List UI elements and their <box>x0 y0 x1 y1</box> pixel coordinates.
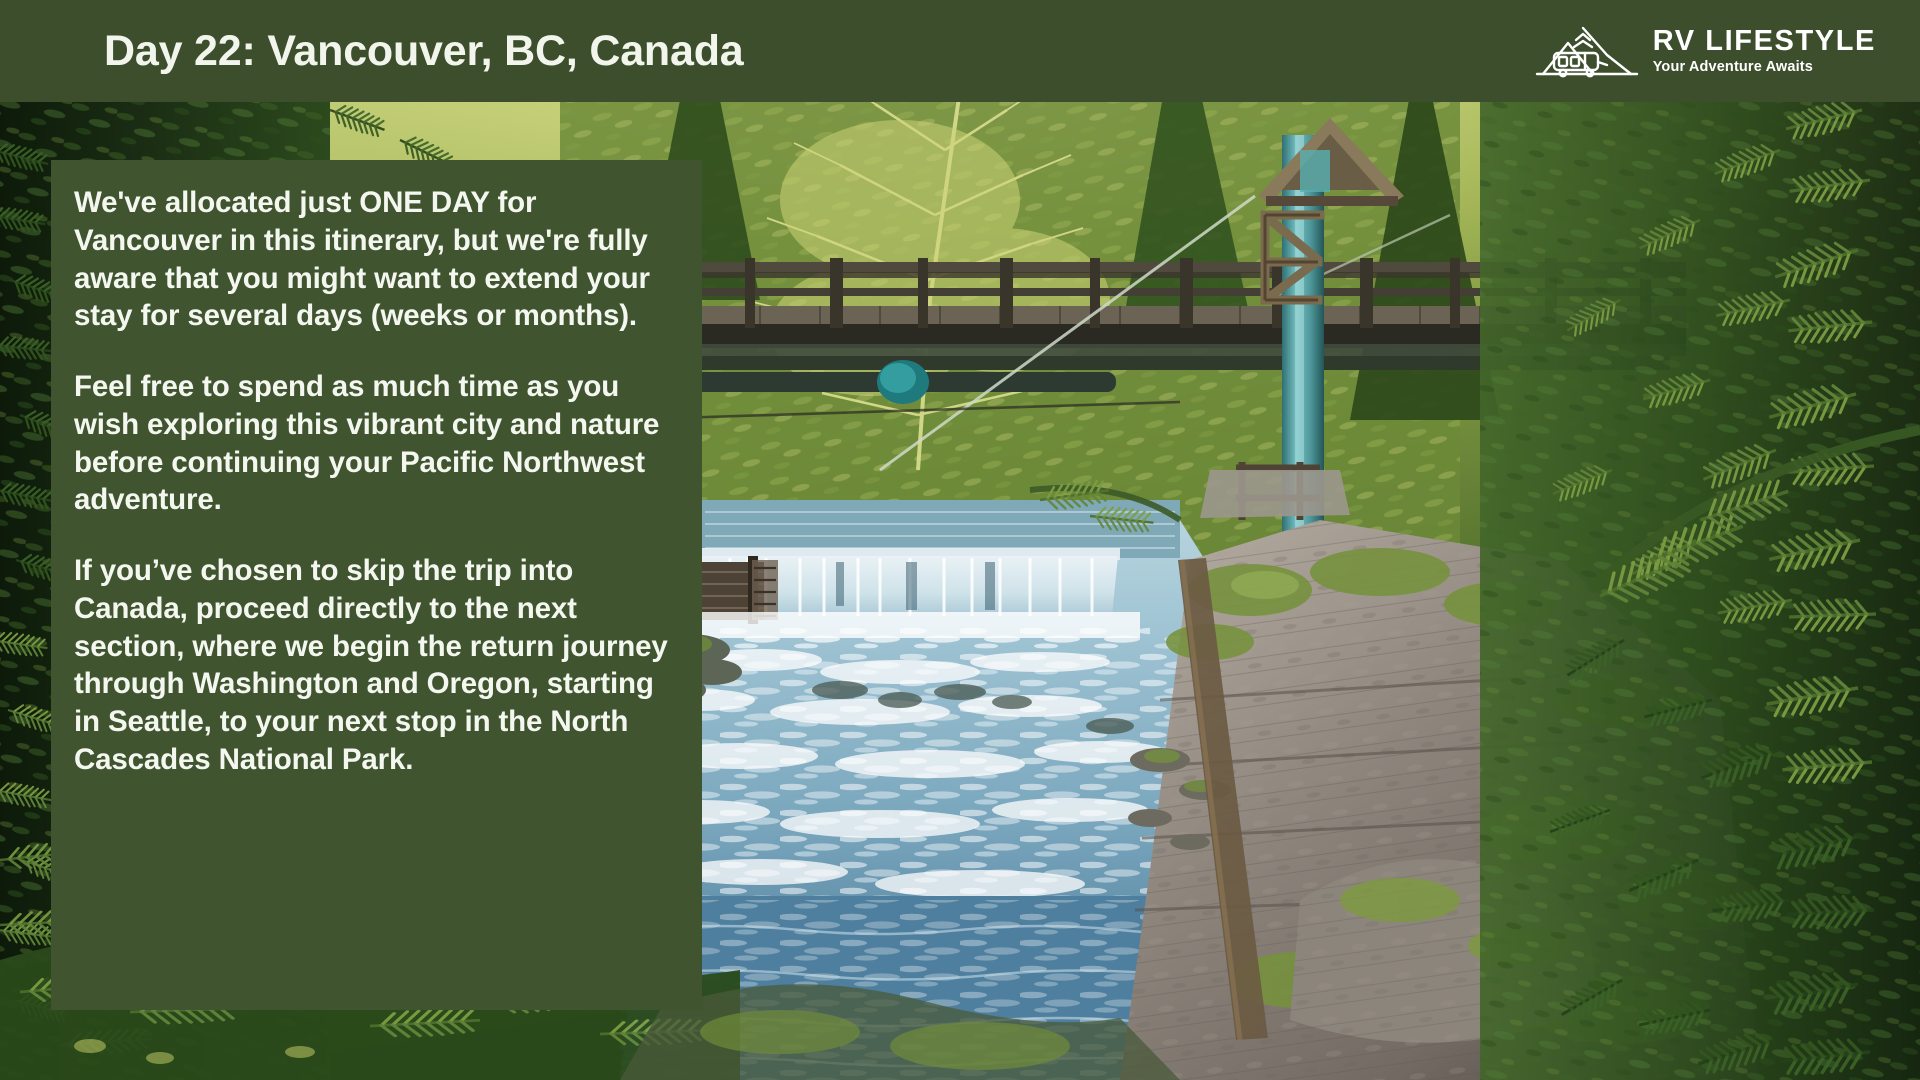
slide-root: Day 22: Vancouver, BC, Canada <box>0 0 1920 1080</box>
brand-logo: RV LIFESTYLE Your Adventure Awaits <box>1535 22 1898 80</box>
paragraph-3: If you’ve chosen to skip the trip into C… <box>74 552 670 779</box>
paragraph-2: Feel free to spend as much time as you w… <box>74 368 670 519</box>
paragraph-1: We've allocated just ONE DAY for Vancouv… <box>74 184 670 335</box>
brand-name: RV LIFESTYLE <box>1653 26 1876 56</box>
page-title: Day 22: Vancouver, BC, Canada <box>104 30 743 73</box>
brand-logo-text: RV LIFESTYLE Your Adventure Awaits <box>1653 26 1876 77</box>
content-text-panel: We've allocated just ONE DAY for Vancouv… <box>51 160 702 1010</box>
brand-tagline: Your Adventure Awaits <box>1653 59 1876 76</box>
mountain-rv-trailer-icon <box>1535 22 1639 80</box>
slide-header-bar: Day 22: Vancouver, BC, Canada <box>0 0 1920 102</box>
